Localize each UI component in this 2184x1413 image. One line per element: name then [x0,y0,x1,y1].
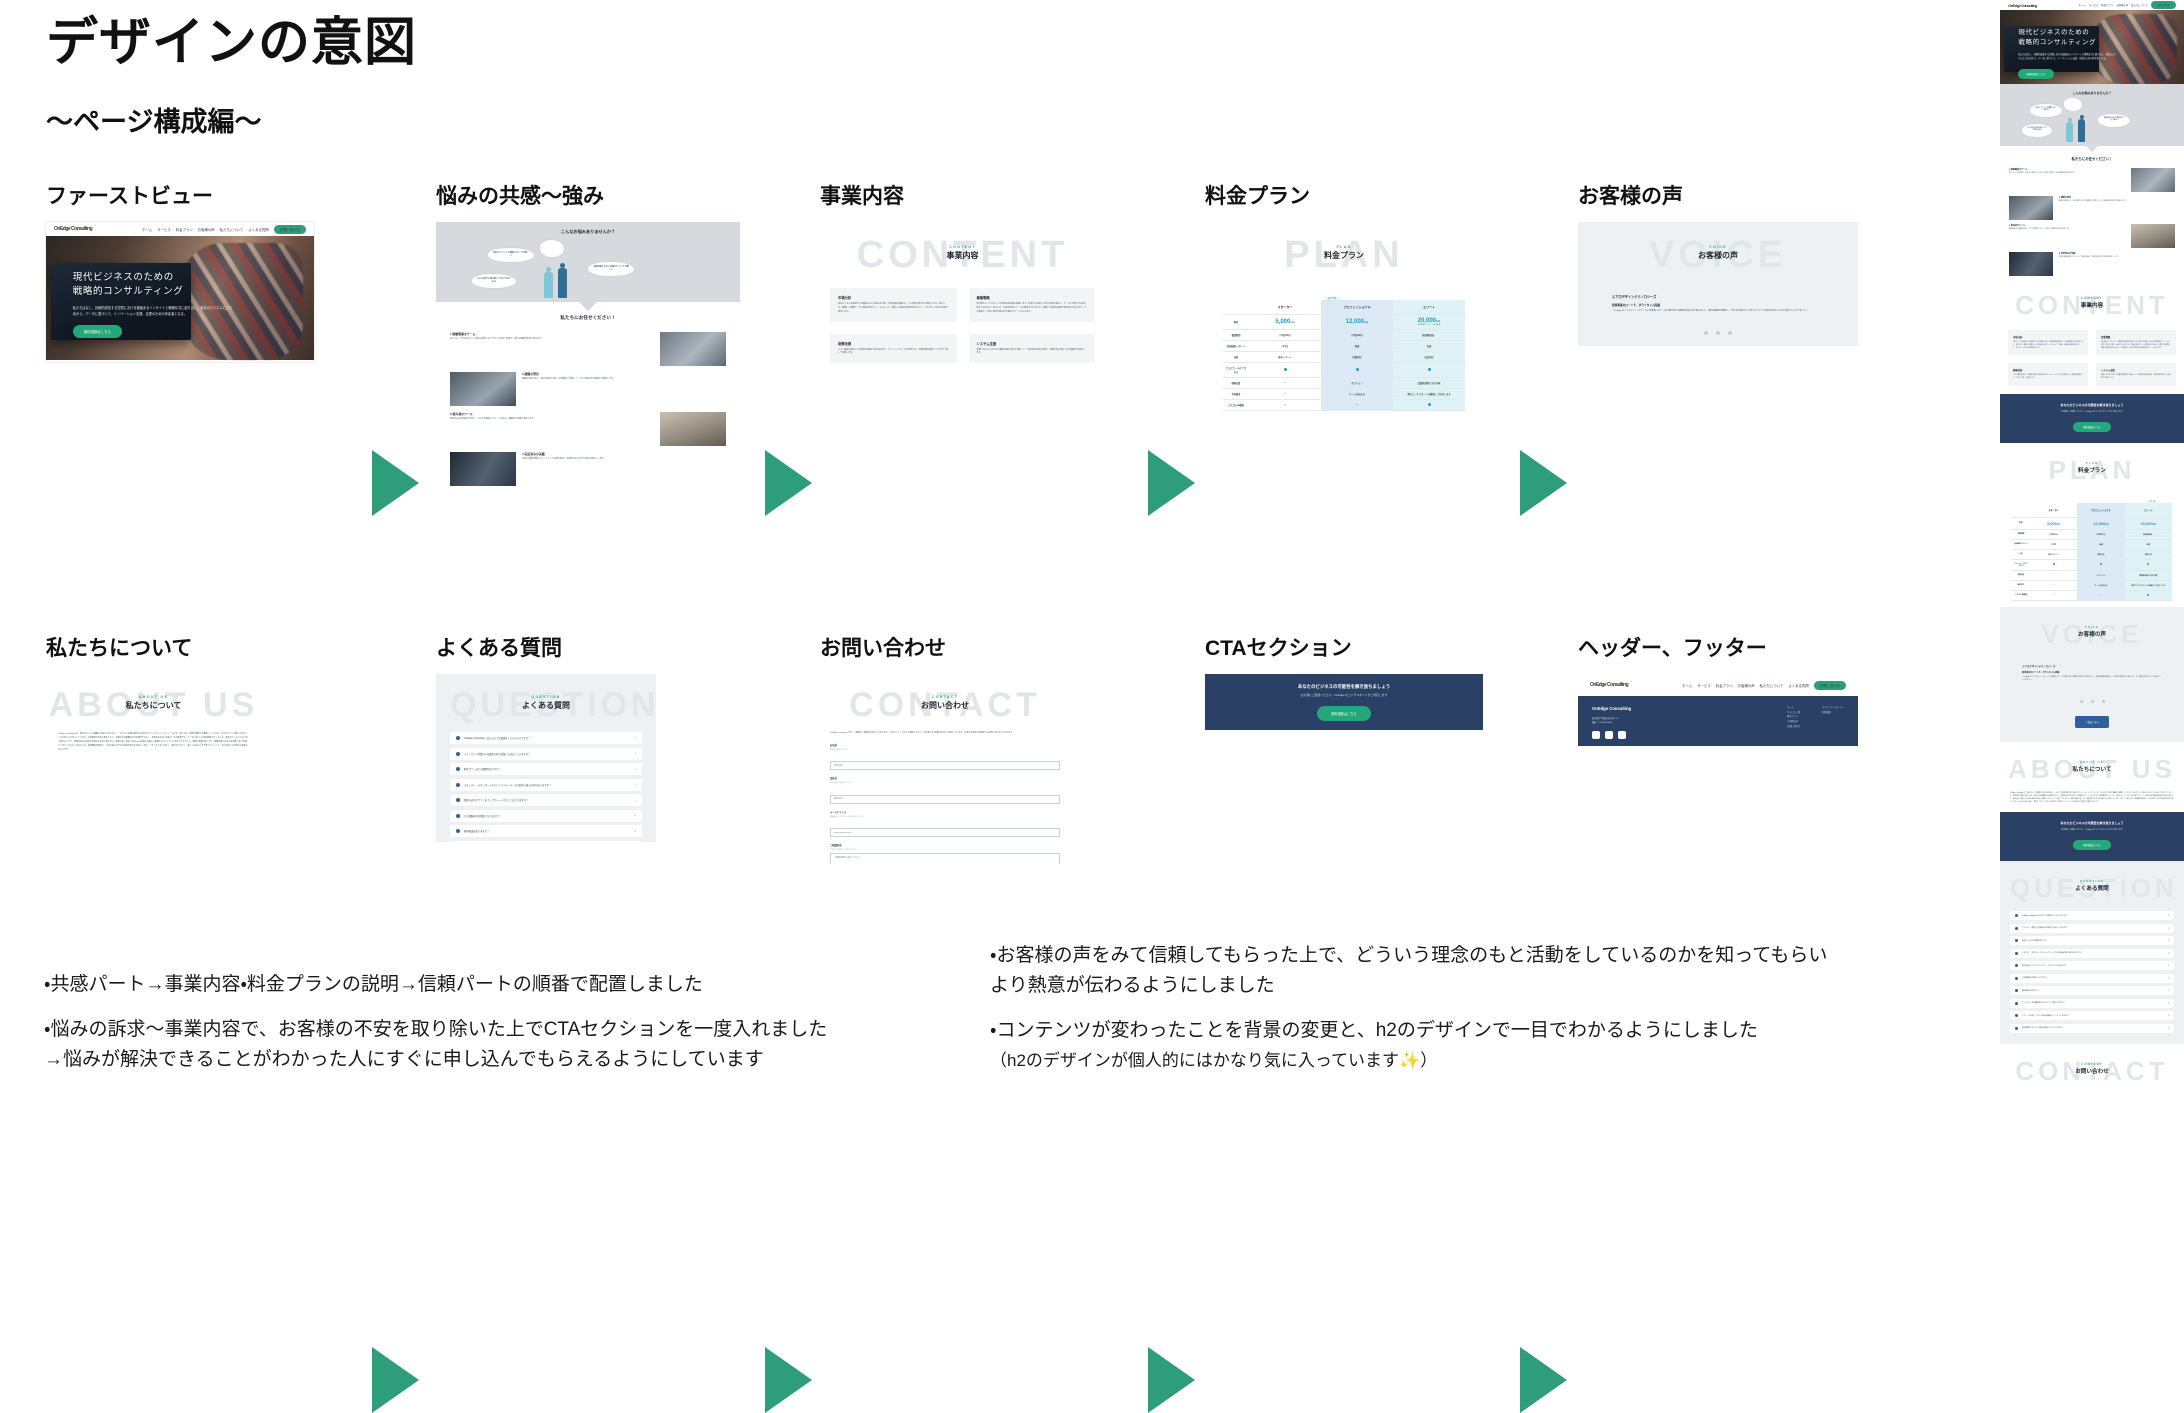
name-input[interactable] [830,761,1060,770]
cell: 月1回 [2030,539,2077,549]
cell: — [2030,590,2077,600]
faq-item[interactable]: ビジネスデータの機密性はどのようにして管理されますか？▾ [2010,999,2174,1008]
thumbnail-plan[interactable]: PLAN PLAN 料金プラン ＼ おすすめ ／ スターター プロフェッショ [1205,222,1495,422]
table-row: カスタムAI構築 — — [2012,590,2172,600]
faq-question: OnEdge Consulting にはどのような相談をしたらよいのですか？ [464,736,531,740]
faq-item[interactable]: スターター／スタンダードよりハイパフォーマンスの料金の違いは何がありますか？▾ [2010,949,2174,958]
flow-arrow-icon [1148,450,1195,516]
pricing-table: スターター プロフェッショナル エリート 料金 5,000円/月 12,000円… [1223,300,1465,411]
feature-image [450,452,516,486]
content-card[interactable]: システム支援業務プロセスに合わせた基盤の選定・導入を支援。データ活用の仕組みを整… [2096,363,2176,386]
feature-title: 2 課題の発見 [522,372,726,376]
faq-question: 無料相談はありますか？ [464,829,489,833]
price-note: （初年度割引、サポート込み価格） [1395,324,1463,326]
question-mark-icon [456,814,460,818]
field-hint-email: 返信先のメールアドレスをご記入ください [830,815,1060,818]
faq-item[interactable]: テクノロジー産業や小売業界以外の企業にも対応していますか？▾ [450,748,642,760]
feature-image [2131,224,2175,248]
hero-headline-line2: 戦略的コンサルティング [73,285,233,300]
cta-sub: お気軽にご相談ください。OnEdge のコンサルタントがご対応します [2000,828,2184,831]
row-label: 対応範囲 レポート [2012,539,2030,549]
section-heading-contact: CONTACT CONTACT お問い合わせ [820,674,1070,732]
pricing-table-wrap: ＼ おすすめ ／ スターター プロフェッショナル エリート 料金 5,000円/… [2000,493,2184,607]
table-row: 料金 5,000円/月 12,000円/月 20,000円/月 [2012,517,2172,529]
content-card[interactable]: システム支援 業務プロセスに合わせた基盤の選定・導入を支援。データ活用の仕組みを… [969,334,1096,364]
feature-row: 4 実証済みの実績 多様な業種・規模のプロジェクトで成果を創出。再現性のある手法… [436,449,740,489]
thumbnail-faq[interactable]: QUESTION QUESTION よくある質問 OnEdge Consulti… [436,674,726,842]
nav-item[interactable]: ホーム [2079,3,2086,7]
flow-cell-faq: よくある質問 QUESTION QUESTION よくある質問 OnEdge C… [436,632,726,842]
question-mark-icon [456,736,460,740]
table-corner [1223,300,1249,315]
content-cards: 市場分析貴社ビジネスの環境やその領域における競合を分析、市場の動向・顧客のニーズ… [2000,328,2184,394]
cell: — [1249,400,1321,411]
voice-list-button[interactable]: 一覧はこちら [2075,716,2109,728]
preview-about: ABOUT US ABOUT US 私たちについて OnEdge Consult… [2000,742,2184,812]
field-hint-company: 法人の方はご記入ください [830,781,1060,784]
contact-form: OnEdge Consulting では、ご質問やご相談をお待ちしております。下… [820,732,1070,864]
nav-cta-button[interactable]: お問い合わせ [1814,681,1846,690]
table-row: 対応範囲 レポート 月1回 隔週 毎週 [1223,341,1465,352]
feature-desc: 最新のAI・分析基盤を活用し、打ち手の精度とスピードを両立。継続的な改善を支援し… [450,418,654,422]
row-label: 分析 [2012,549,2030,559]
cell: 月1回/60分 [2030,529,2077,539]
cell: チーム対応のみ [2077,580,2124,590]
row-label: 分析 [1223,352,1249,363]
check-dot-icon [2100,563,2102,565]
flow-arrow-icon [1520,1347,1567,1413]
flow-arrow-icon [1148,1347,1195,1413]
faq-question: 契約期間はどのくらいを目安に設定いただいていますか？ [2022,1027,2063,1029]
flow-label-contact: お問い合わせ [820,632,1110,662]
feature-title: 1 経験豊富なチーム [2009,168,2125,171]
nav-item[interactable]: 私たちについて [1760,683,1784,688]
nav-item[interactable]: よくある質問 [248,227,268,232]
section-heading-content: CONTENT CONTENT 事業内容 [820,222,1105,284]
page-title: デザインの意図 [46,14,417,74]
question-mark-icon [456,798,460,802]
pricing-table-wrap: ＼ おすすめ ／ スターター プロフェッショナル エリート [1205,284,1483,411]
cell: 隔週 [2077,539,2124,549]
section-heading-plan: PLAN PLAN 料金プラン [1205,222,1483,284]
flow-cell-empathy: 悩みの共感〜強み こんなお悩みありませんか？ 独自なブランドを構築することが難し… [436,180,746,622]
row-label: 研修支援 [2012,570,2030,580]
cell: — [1249,389,1321,400]
footer-link[interactable]: プライバシーポリシー [1822,706,1844,711]
card-title: 事業戦略 [977,295,1088,300]
nav-item[interactable]: 私たちについて [220,227,244,232]
logo-icon: OnEdge Consulting [54,226,92,232]
speech-bubble: 独自なブランドを構築することが難しい [2030,104,2062,117]
page-subtitle: 〜ページ構成編〜 [46,100,261,139]
footer-link[interactable]: 利用規約 [1822,711,1844,716]
faq-question: どの業務担当が契約になりますか？ [464,814,501,818]
price-unit: 円/月 [1364,322,1368,324]
email-input[interactable] [830,828,1060,837]
thumbnail-first-view[interactable]: OnEdge Consulting ホーム サービス 料金プラン お客様の声 私… [46,222,326,362]
row-label: 相談時間 [1223,330,1249,341]
nav-item[interactable]: サービス [2089,3,2099,7]
section-label-ja: 私たちについて [46,700,261,711]
price-unit: 円/月 [2105,525,2108,526]
section-heading-content: CONTENT CONTENT 事業内容 [2000,278,2184,328]
section-label-ja: お問い合わせ [2000,1067,2184,1075]
card-title: 財務改善 [838,341,949,346]
cell: — [2030,580,2077,590]
question-mark-icon [2015,964,2018,967]
row-label: 相談時間 [2012,529,2030,539]
section-label-ja: 私たちについて [2000,765,2184,773]
flow-cell-header-footer: ヘッダー、フッター OnEdge Consulting ホーム サービス 料金プ… [1578,632,1878,746]
feature-row: 2 課題の発見課題の本質を捉え、貴社の現状に即した最適解をご提案。データと現場の… [2000,194,2184,222]
price-professional: 12,000 [2093,521,2105,526]
thumbnail-voice[interactable]: VOICE VOICE お客様の声 エアロデザインテクノロジーズ 新規事業のロー… [1578,222,1868,346]
faq-question: スターター／スタンダードよりハイパフォーマンスの料金の違いは何がありますか？ [2022,952,2082,954]
check-dot-icon [1356,368,1359,371]
faq-item[interactable]: レポートする前に、すでにある社内資料をインプットできますか？▾ [2010,1011,2174,1020]
logo-icon: OnEdge Consulting [1590,682,1628,688]
row-label: 専任担当 [2012,580,2030,590]
content-card[interactable]: 市場分析貴社ビジネスの環境やその領域における競合を分析、市場の動向・顧客のニーズ… [2008,330,2088,355]
logo-icon: OnEdge Consulting [2008,3,2037,8]
question-mark-icon [2015,1027,2018,1030]
speech-bubble: 売上の頭打ち感が続いており不安がある [472,274,516,288]
table-row: 研修支援 — オプション 回数無制限で対応可能 [1223,378,1465,389]
feature-image [450,372,516,406]
table-row: 相談時間 月1回/60分 月3回/90分 無制限相談... [2012,529,2172,539]
cell: 無制限相談... [2125,529,2172,539]
check-dot-icon [2147,594,2149,596]
notes-right: ・お客様の声をみて信頼してもらった上で、どういう理念のもと活動をしているのかを知… [990,941,1950,1074]
chevron-down-icon: ▾ [635,799,636,802]
table-row: 分析 基本レポート 詳細分析 高度分析 [2012,549,2172,559]
card-desc: 業務プロセスに合わせた基盤の選定・導入を支援。データ活用の仕組みを整え、現場が使… [2101,375,2171,381]
thumbnail-cta[interactable]: あなたのビジネスの可能性を解き放ちましょう お気軽にご相談ください。OnEdge… [1205,674,1495,730]
hero-cta-button[interactable]: 無料相談はこちら [73,325,122,338]
cell: チーム対応のみ [1321,389,1393,400]
feature-desc: 私たちは、平均在任とした多彩な業界において培った知見と実績で、貴社の課題を解決に… [2009,173,2125,176]
site-footer: OnEdge Consulting 東京都千代田区丸の内1-1-1 電話：03-… [1578,696,1858,746]
content-card[interactable]: 事業戦略各分野のコンサルタントが最適な解決策を提案します。目標から逆算した実行計… [2096,330,2176,355]
speech-bubble: 独自なブランドを構築することが難しい [488,248,534,262]
thumbnail-about[interactable]: ABOUT US ABOUT US 私たちについて OnEdge Consult… [46,674,336,789]
card-desc: 貴社ビジネスの環境やその領域における競合を分析、市場の動向・顧客のニーズ・業界の… [838,303,949,315]
faq-item[interactable]: テクノロジー産業や小売業界以外の企業にも対応していますか？▾ [2010,924,2174,933]
faq-item[interactable]: どの業務担当が契約になりますか？▾ [450,810,642,822]
table-row: カスタムAI構築 — — [1223,400,1465,411]
card-desc: コスト構造の見直しと収益性の改善に取り組みます。キャッシュフローの可視化から、投… [2013,375,2083,381]
faq-question: 料金プランはどの期間有効ですか？ [464,767,501,771]
section-label-ja: 事業内容 [2000,301,2184,309]
chevron-down-icon: ▾ [2168,1002,2169,1005]
voice-body: 「OnEdge のコンサルティングチームとの連携により、3か月間で新たな戦略の実… [1578,307,1858,314]
instagram-icon[interactable] [1618,731,1626,739]
price-unit: 円/月 [1290,322,1294,324]
content-cards: 市場分析 貴社ビジネスの環境やその領域における競合を分析、市場の動向・顧客のニー… [820,284,1105,373]
cell: 回数無制限で対応可能 [1393,378,1465,389]
preview-navbar: OnEdge Consulting ホーム サービス 料金プラン お客様の声 私… [2000,0,2184,10]
thumbnail-empathy[interactable]: こんなお悩みありませんか？ 独自なブランドを構築することが難しい 業績改善のため… [436,222,746,622]
section-heading-faq: QUESTION QUESTION よくある質問 [450,674,642,732]
question-mark-icon [456,752,460,756]
section-heading-about: ABOUT US ABOUT US 私たちについて [46,674,261,732]
card-desc: 業務プロセスに合わせた基盤の選定・導入を支援。データ活用の仕組みを整え、現場が使… [977,349,1088,357]
price-elite: 20,000 [2141,521,2153,526]
plan-col-elite: エリート [1393,300,1465,315]
flow-label-content: 事業内容 [820,180,1110,210]
cell: 隔週 [1321,341,1393,352]
preview-plan: PLAN PLAN 料金プラン ＼ おすすめ ／ スターター プロフェッショナル… [2000,443,2184,607]
note-line: ・悩みの訴求〜事業内容で、お客様の不安を取り除いた上でCTAセクションを一度入れ… [44,1015,944,1074]
feature-title: 2 課題の発見 [2059,196,2175,199]
question-mark-icon [456,767,460,771]
faq-item[interactable]: 契約の途中でプランをアップグレードすることはできますか？▾ [450,794,642,806]
flow-label-empathy: 悩みの共感〜強み [436,180,746,210]
field-label-company: 会社名 [830,776,1060,780]
section-label-en: VOICE [1578,245,1858,249]
person-illustration-male [2078,115,2085,142]
note-line: ・共感パート→事業内容・料金プランの説明→信頼パートの順番で配置しました [44,970,944,999]
chevron-down-icon: ▾ [2168,927,2169,930]
nav-item[interactable]: サービス [1697,683,1711,688]
row-label: 研修支援 [1223,378,1249,389]
empathy-block: こんなお悩みありませんか？ 独自なブランドを構築することが難しい 業績改善のため… [2000,84,2184,146]
person-illustration-female [544,267,553,298]
feature-title: 3 最先端のツール [450,412,654,416]
chevron-down-icon: ▾ [2168,977,2169,980]
nav-item[interactable]: ホーム [142,227,152,232]
full-page-preview-inner: OnEdge Consulting ホーム サービス 料金プラン お客様の声 私… [2000,0,2184,1092]
feature-desc: 多様な業種・規模のプロジェクトで成果を創出。再現性のある手法で成長を後押しします… [2059,257,2175,260]
nav-item[interactable]: サービス [157,227,171,232]
carousel-dots[interactable] [1578,314,1858,340]
faq-item[interactable]: 契約の途中でプランをアップグレードすることはできますか？▾ [2010,961,2174,970]
thumbnail-contact[interactable]: CONTACT CONTACT お問い合わせ OnEdge Consulting… [820,674,1110,864]
voice-client-name: エアロデザインテクノロジーズ [1578,284,1858,299]
faq-item[interactable]: 契約期間はどのくらいを目安に設定いただいていますか？▾ [2010,1024,2174,1033]
price-starter: 5,000 [1275,319,1290,325]
cta-title: あなたのビジネスの可能性を解き放ちましょう [2000,403,2184,407]
content-card[interactable]: 市場分析 貴社ビジネスの環境やその領域における競合を分析、市場の動向・顧客のニー… [830,288,957,322]
plan-col-professional: プロフェッショナル [2077,503,2124,518]
card-title: システム支援 [977,341,1088,346]
chevron-down-icon: ▾ [635,737,636,740]
chevron-down-icon: ▾ [2168,914,2169,917]
cta-button[interactable]: 無料相談はこちら [2073,422,2111,432]
table-row: 相談時間 月1回/60分 月3回/90分 無制限相談... [1223,330,1465,341]
footer-address: 東京都千代田区丸の内1-1-1 電話：03-0000-0000 [1592,717,1631,725]
preview-empathy: こんなお悩みありませんか？ 独自なブランドを構築することが難しい 業績改善のため… [2000,84,2184,278]
content-card[interactable]: 財務改善 コスト構造の見直しと収益性の改善に取り組みます。キャッシュフローの可視… [830,334,957,364]
section-label-ja: お客様の声 [2000,630,2184,638]
nav-item[interactable]: お客様の声 [1738,683,1755,688]
question-mark-icon [2015,939,2018,942]
nav-cta-button[interactable]: お問い合わせ [2151,1,2176,9]
feature-desc: 課題の本質を捉え、貴社の現状に即した最適解をご提案。データと現場の声の両面から検… [2059,201,2175,204]
cta-sub: お気軽にご相談ください。OnEdge のコンサルタントがご対応します [2000,410,2184,413]
section-label-en: CONTENT [2000,297,2184,300]
hero-copy: 現代ビジネスのための 戦略的コンサルティング 私たちはなし、持続的成長する空間に… [73,271,233,339]
content-card[interactable]: 財務改善コスト構造の見直しと収益性の改善に取り組みます。キャッシュフローの可視化… [2008,363,2088,386]
full-page-preview[interactable]: OnEdge Consulting ホーム サービス 料金プラン お客様の声 私… [2000,0,2184,1092]
nav-item[interactable]: 料金プラン [176,227,193,232]
chevron-down-icon: ▾ [2168,1027,2169,1030]
row-label: ウェビナーへの アクセス [2012,559,2030,570]
nav-links: ホーム サービス 料金プラン お客様の声 私たちについて よくある質問 お問い合… [1682,681,1846,690]
question-mark-icon [456,829,460,833]
faq-item[interactable]: スターター／スタンダードよりハイパフォーマンスの料金の違いは何がありますか？▾ [450,779,642,791]
nav-item[interactable]: ホーム [1682,683,1692,688]
section-heading-about: ABOUT US ABOUT US 私たちについて [2000,742,2184,792]
table-row: ウェビナーへの アクセス [2012,559,2172,570]
row-label: カスタムAI構築 [1223,400,1249,411]
hero-body: 私たちはなし、持続的成長する空間における価値あるインサイトと戦略を共に創り出し、… [2018,53,2118,61]
faq-question: テクノロジー産業や小売業界以外の企業にも対応していますか？ [464,752,530,756]
check-dot-icon [1428,368,1431,371]
feature-desc: 最新のAI・分析基盤を活用し、打ち手の精度とスピードを両立。継続的な改善を支援し… [2009,229,2125,232]
price-starter: 5,000 [2047,521,2057,526]
check-dot-icon [1284,368,1287,371]
feature-title: 1 経験豊富なチーム [450,332,654,336]
plan-col-starter: スターター [1249,300,1321,315]
cell: 月3回/90分 [1321,330,1393,341]
question-mark-icon [2015,1014,2018,1017]
site-header: OnEdge Consulting ホーム サービス 料金プラン お客様の声 私… [1578,674,1858,696]
chevron-down-icon: ▾ [2168,989,2169,992]
section-label-en: ABOUT US [46,695,261,699]
section-heading-voice: VOICE VOICE お客様の声 [2000,607,2184,657]
content-card[interactable]: 事業戦略 各分野のコンサルタントが最適な解決策を提案します。目標から逆算した実行… [969,288,1096,322]
cell: 高度分析 [2125,549,2172,559]
empathy-heading: こんなお悩みありませんか？ [2000,84,2184,95]
footer-link[interactable]: お問い合わせ [1787,725,1800,730]
cell: 基本レポート [2030,549,2077,559]
field-label-message: ご相談内容 [830,843,1060,847]
section-label-en: PLAN [1205,245,1483,249]
section-label-ja: お客様の声 [1578,250,1858,261]
chevron-down-icon: ▾ [635,783,636,786]
nav-item[interactable]: よくある質問 [1788,683,1808,688]
question-mark-icon [2015,952,2018,955]
person-illustration-male [558,263,567,298]
nav-item[interactable]: お客様の声 [198,227,215,232]
cell: オプション [1321,378,1393,389]
feature-desc: 課題の本質を捉え、貴社の現状に即した最適解をご提案。データと現場の声の両面から検… [522,378,726,382]
hero-cta-button[interactable]: 無料相談はこちら [2018,69,2053,79]
cell: 高度分析 [1393,352,1465,363]
recommend-badge: ＼ おすすめ ／ [1297,296,1367,300]
preview-hero-banner: 現代ビジネスのための 戦略的コンサルティング 私たちはなし、持続的成長する空間に… [2000,10,2184,84]
chevron-down-icon: ▾ [2168,1014,2169,1017]
table-row: ウェビナーへの アクセス [1223,363,1465,378]
row-label: 専任担当 [1223,389,1249,400]
section-label-ja: 料金プラン [1205,250,1483,261]
faq-question: 料金プランはどの期間有効ですか？ [2022,940,2048,942]
speech-bubble: 業績改善のために施策を打つことが難しい [588,262,634,276]
nav-item[interactable]: 料金プラン [1716,683,1733,688]
flow-arrow-icon [765,450,812,516]
feature-row: 1 経験豊富なチーム私たちは、平均在任とした多彩な業界において培った知見と実績で… [2000,166,2184,194]
faq-item[interactable]: ビジネスデータの機密性はどのようにして管理されますか？▾ [450,841,642,843]
field-hint-message: できるだけ詳しくご記入ください [830,848,1060,851]
cell: オプション [2077,570,2124,580]
faq-item[interactable]: OnEdge Consulting にはどのような相談をしたらよいのですか？▾ [2010,911,2174,920]
nav-cta-button[interactable]: お問い合わせ [274,225,306,234]
faq-question: OnEdge Consulting にはどのような相談をしたらよいのですか？ [2022,915,2068,917]
voice-client-name: エアロデザインテクノロジーズ [2000,657,2184,668]
thumbnail-content[interactable]: CONTENT CONTENT 事業内容 市場分析 貴社ビジネスの環境やその領域… [820,222,1110,422]
nav-links: ホーム サービス 料金プラン お客様の声 私たちについて お問い合わせ [2079,1,2176,9]
feature-title: 3 最先端のツール [2009,224,2125,227]
feature-image [2009,252,2053,276]
question-mark-icon [2015,914,2018,917]
card-title: 財務改善 [2013,368,2083,372]
faq-item[interactable]: 料金プランはどの期間有効ですか？▾ [2010,936,2174,945]
social-links[interactable] [1592,731,1631,739]
table-row: 専任担当 — チーム対応のみ 専任コンサルタントが継続して担当します [2012,580,2172,590]
preview-cta-2: あなたのビジネスの可能性を解き放ちましょう お気軽にご相談ください。OnEdge… [2000,812,2184,861]
feature-image [660,412,726,446]
mock-navbar: OnEdge Consulting ホーム サービス 料金プラン お客様の声 私… [46,222,314,236]
feature-image [660,332,726,366]
message-textarea[interactable] [830,853,1060,864]
twitter-icon[interactable] [1605,731,1613,739]
flow-label-about: 私たちについて [46,632,336,662]
section-label-ja: 事業内容 [820,250,1105,261]
nav-item[interactable]: 私たちについて [2131,3,2148,7]
faq-question: どの業務担当が契約になりますか？ [2022,977,2048,979]
faq-question: 無料相談はありますか？ [2022,990,2040,992]
note-line: ・お客様の声をみて信頼してもらった上で、どういう理念のもと活動をしているのかを知… [990,941,1950,1000]
faq-item[interactable]: 無料相談はありますか？▾ [450,825,642,837]
cell: — [2077,590,2124,600]
nav-item[interactable]: お客様の声 [2116,3,2128,7]
faq-item[interactable]: OnEdge Consulting にはどのような相談をしたらよいのですか？▾ [450,732,642,744]
plan-col-starter: スターター [2030,503,2077,518]
row-label: 対応範囲 レポート [1223,341,1249,352]
section-label-en: QUESTION [450,695,642,699]
cta-button[interactable]: 無料相談はこちら [1317,706,1371,721]
carousel-dots[interactable] [2000,682,2184,708]
flow-arrow-icon [372,450,419,516]
faq-item[interactable]: 無料相談はありますか？▾ [2010,986,2174,995]
card-desc: 各分野のコンサルタントが最適な解決策を提案します。目標から逆算した実行計画を策定… [2101,342,2171,350]
cell: — [1321,400,1393,411]
footer-brand: OnEdge Consulting [1592,706,1631,711]
company-input[interactable] [830,795,1060,804]
thumbnail-header-footer[interactable]: OnEdge Consulting ホーム サービス 料金プラン お客様の声 私… [1578,674,1878,746]
feature-row: 2 課題の発見 課題の本質を捉え、貴社の現状に即した最適解をご提案。データと現場… [436,369,740,409]
table-row: 専任担当 — チーム対応のみ 専任コンサルタントが継続して担当します [1223,389,1465,400]
faq-item[interactable]: 料金プランはどの期間有効ですか？▾ [450,763,642,775]
preview-cta-1: あなたのビジネスの可能性を解き放ちましょう お気軽にご相談ください。OnEdge… [2000,394,2184,443]
facebook-icon[interactable] [1592,731,1600,739]
section-label-en: CONTACT [820,695,1070,699]
card-title: 事業戦略 [2101,335,2171,339]
row-label: 料金 [1223,315,1249,330]
voice-headline: 新規事業のローンチ。ダウンタイム短縮 [1578,299,1858,307]
flow-cell-voice: お客様の声 VOICE VOICE お客様の声 エアロデザインテクノロジーズ 新… [1578,180,1868,346]
faq-item[interactable]: どの業務担当が契約になりますか？▾ [2010,974,2174,983]
chevron-down-icon: ▾ [635,752,636,755]
nav-item[interactable]: 料金プラン [2101,3,2113,7]
cell: 専任コンサルタントが継続して担当します [2125,580,2172,590]
cta-button[interactable]: 無料相談はこちら [2073,840,2111,850]
cell: 詳細分析 [2077,549,2124,559]
chevron-down-icon: ▾ [635,768,636,771]
voice-body: 「OnEdge のコンサルティングチームとの連携により、3か月間で新たな戦略の実… [2000,674,2184,682]
section-heading-faq: QUESTION QUESTION よくある質問 [2010,861,2174,911]
